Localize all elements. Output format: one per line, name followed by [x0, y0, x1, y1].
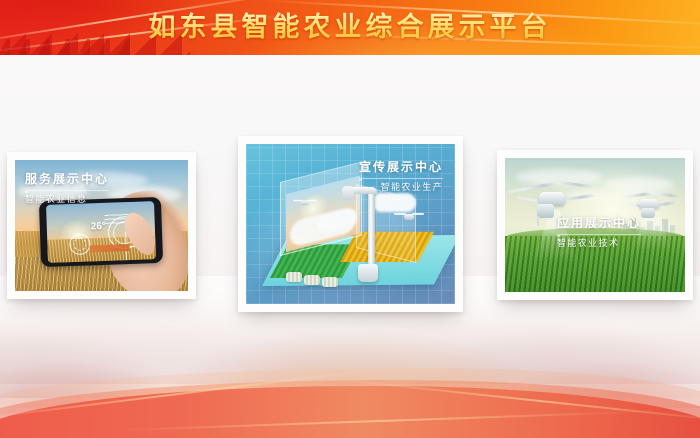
card-application-image: 应用展示中心 智能农业技术 [505, 158, 685, 292]
drone-right-icon [396, 211, 422, 222]
card-publicity-subtitle: 智能农业生产 [359, 182, 443, 194]
agriculture-drone-right-icon [619, 190, 681, 218]
drone-rotor-right [307, 200, 317, 202]
card-publicity-display-center[interactable]: 宣传展示中心 智能农业生产 [238, 136, 463, 312]
card-service-label: 服务展示中心 智能农业信息 [25, 172, 109, 206]
drone-spray-tank [641, 208, 655, 218]
page-title: 如东县智能农业综合展示平台 [0, 9, 700, 47]
label-divider [557, 234, 641, 235]
hay-bale-2 [304, 275, 320, 285]
page-root: 如东县智能农业综合展示平台 26° [0, 0, 700, 438]
card-service-display-center[interactable]: 26° 服务展示中心 智能农业信息 [7, 152, 196, 299]
hay-bale-3 [322, 277, 338, 287]
hud-info-chip [89, 244, 129, 252]
card-application-display-center[interactable]: 应用展示中心 智能农业技术 [497, 150, 693, 300]
card-publicity-title: 宣传展示中心 [359, 160, 443, 175]
header-banner: 如东县智能农业综合展示平台 [0, 0, 700, 55]
drone-spray-tank [537, 204, 554, 218]
card-service-title: 服务展示中心 [25, 172, 109, 187]
smart-lamp-pole [368, 188, 375, 274]
water-bucket [358, 264, 378, 282]
drone-leg-1 [537, 216, 539, 226]
drone-rotor-right [412, 213, 424, 215]
smart-lamp-head [342, 186, 354, 200]
card-application-title: 应用展示中心 [557, 216, 641, 231]
card-service-image: 26° 服务展示中心 智能农业信息 [15, 160, 188, 291]
card-service-subtitle: 智能农业信息 [25, 194, 109, 206]
card-publicity-label: 宣传展示中心 智能农业生产 [359, 160, 443, 194]
card-publicity-image: 宣传展示中心 智能农业生产 [246, 144, 455, 304]
label-divider [25, 190, 109, 191]
hud-temperature-readout: 26° [91, 221, 106, 233]
drone-left-icon [295, 198, 316, 207]
card-application-subtitle: 智能农业技术 [557, 238, 641, 250]
label-divider [359, 178, 443, 179]
agriculture-drone-left-icon [509, 180, 601, 220]
floating-cloud [372, 193, 416, 212]
card-application-label: 应用展示中心 智能农业技术 [557, 216, 641, 250]
hay-bale-1 [286, 272, 302, 282]
